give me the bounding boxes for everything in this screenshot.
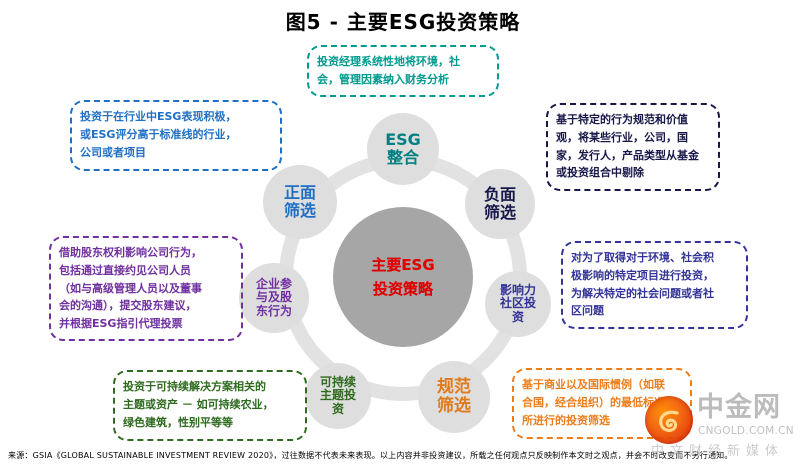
callout-line: 借助股东权利影响公司行为， <box>59 244 233 262</box>
callout-line: 家，发行人，产品类型从基金 <box>556 147 710 165</box>
callout-line: 区问题 <box>571 302 738 320</box>
callout-line: 或投资组合中剔除 <box>556 164 710 182</box>
callout-sustainability-theme-note: 投资于可持续解决方案相关的主题或资产 － 如可持续农业，绿色建筑，性别平等等 <box>113 370 307 441</box>
callout-line: 包括通过直接约见公司人员 <box>59 262 233 280</box>
watermark-tagline: 中文财经新媒体 <box>651 440 784 459</box>
callout-line: 会的沟通），提交股东建议， <box>59 297 233 315</box>
ring-node-sustainability-theme[interactable]: 可持续主题投资 <box>305 363 371 429</box>
ring-node-label-line: 主题投 <box>320 389 356 402</box>
ring-node-label: 影响力社区投资 <box>500 284 536 324</box>
ring-node-label: 可持续主题投资 <box>320 376 356 416</box>
watermark-url: CNGOLD.COM.CN <box>698 425 794 437</box>
callout-line: 会，管理因素纳入财务分析 <box>317 71 489 89</box>
page-title: 图5 - 主要ESG投资策略 <box>0 6 806 35</box>
callout-line: 主题或资产 － 如可持续农业， <box>123 396 297 414</box>
figure-canvas: 图5 - 主要ESG投资策略 主要ESG 投资策略 ESG整合负面筛选影响力社区… <box>0 0 806 470</box>
ring-node-label-line: 与及股 <box>256 291 292 304</box>
callout-line: 投资于可持续解决方案相关的 <box>123 378 297 396</box>
callout-esg-integration-note: 投资经理系统性地将环境，社会，管理因素纳入财务分析 <box>307 45 499 97</box>
ring-node-label: 负面筛选 <box>484 186 516 222</box>
callout-negative-screening-note: 基于特定的行为规范和价值观，将某些行业，公司，国家，发行人，产品类型从基金或投资… <box>546 103 720 191</box>
callout-line: 为解决特定的社会问题或者社 <box>571 285 738 303</box>
center-label-line2: 投资策略 <box>373 282 433 297</box>
ring-node-label: 正面筛选 <box>284 184 316 220</box>
ring-node-label-line: 筛选 <box>437 397 471 416</box>
swirl-icon <box>657 409 682 437</box>
callout-line: 投资于在行业中ESG表现积极， <box>80 108 272 126</box>
ring-node-label-line: 资 <box>320 403 356 416</box>
callout-positive-screening-note: 投资于在行业中ESG表现积极，或ESG评分高于标准线的行业，公司或者项目 <box>70 100 282 171</box>
ring-node-negative-screening[interactable]: 负面筛选 <box>465 169 535 239</box>
callout-impact-community-note: 对为了取得对于环境、社会积极影响的特定项目进行投资，为解决特定的社会问题或者社区… <box>561 241 748 329</box>
ring-node-corporate-engagement[interactable]: 企业参与及股东行为 <box>239 263 309 333</box>
ring-node-label: ESG整合 <box>385 131 421 167</box>
callout-line: 观，将某些行业，公司，国 <box>556 129 710 147</box>
callout-line: 绿色建筑，性别平等等 <box>123 414 297 432</box>
callout-corporate-engagement-note: 借助股东权利影响公司行为，包括通过直接约见公司人员（如与高级管理人员以及董事会的… <box>49 236 243 341</box>
ring-node-label-line: 社区投 <box>500 297 536 310</box>
callout-line: 并根据ESG指引代理投票 <box>59 315 233 333</box>
callout-line: 或ESG评分高于标准线的行业， <box>80 126 272 144</box>
ring-node-impact-community[interactable]: 影响力社区投资 <box>485 271 551 337</box>
ring-node-label-line: 筛选 <box>484 204 516 222</box>
ring-node-label-line: 正面 <box>284 184 316 202</box>
center-node: 主要ESG 投资策略 <box>333 207 473 347</box>
callout-line: 极影响的特定项目进行投资， <box>571 267 738 285</box>
ring-node-label-line: 筛选 <box>284 202 316 220</box>
ring-node-label: 企业参与及股东行为 <box>256 278 292 318</box>
watermark: 中金网 CNGOLD.COM.CN 中文财经新媒体 <box>645 392 806 464</box>
ring-node-label-line: 资 <box>500 311 536 324</box>
callout-line: 基于特定的行为规范和价值 <box>556 111 710 129</box>
ring-node-norms-screening[interactable]: 规范筛选 <box>418 361 490 433</box>
ring-node-label-line: 东行为 <box>256 305 292 318</box>
ring-node-esg-integration[interactable]: ESG整合 <box>367 113 439 185</box>
ring-node-label-line: 整合 <box>385 149 421 167</box>
ring-node-label-line: 规范 <box>437 378 471 397</box>
ring-node-label-line: ESG <box>385 131 421 149</box>
watermark-name: 中金网 <box>697 394 781 421</box>
callout-line: 投资经理系统性地将环境，社 <box>317 53 489 71</box>
ring-node-positive-screening[interactable]: 正面筛选 <box>263 165 337 239</box>
center-label-line1: 主要ESG <box>371 258 434 273</box>
ring-node-label-line: 负面 <box>484 186 516 204</box>
callout-line: 公司或者项目 <box>80 144 272 162</box>
ring-node-label: 规范筛选 <box>437 378 471 416</box>
callout-line: （如与高级管理人员以及董事 <box>59 280 233 298</box>
callout-line: 对为了取得对于环境、社会积 <box>571 249 738 267</box>
cngold-logo-icon <box>645 396 693 444</box>
